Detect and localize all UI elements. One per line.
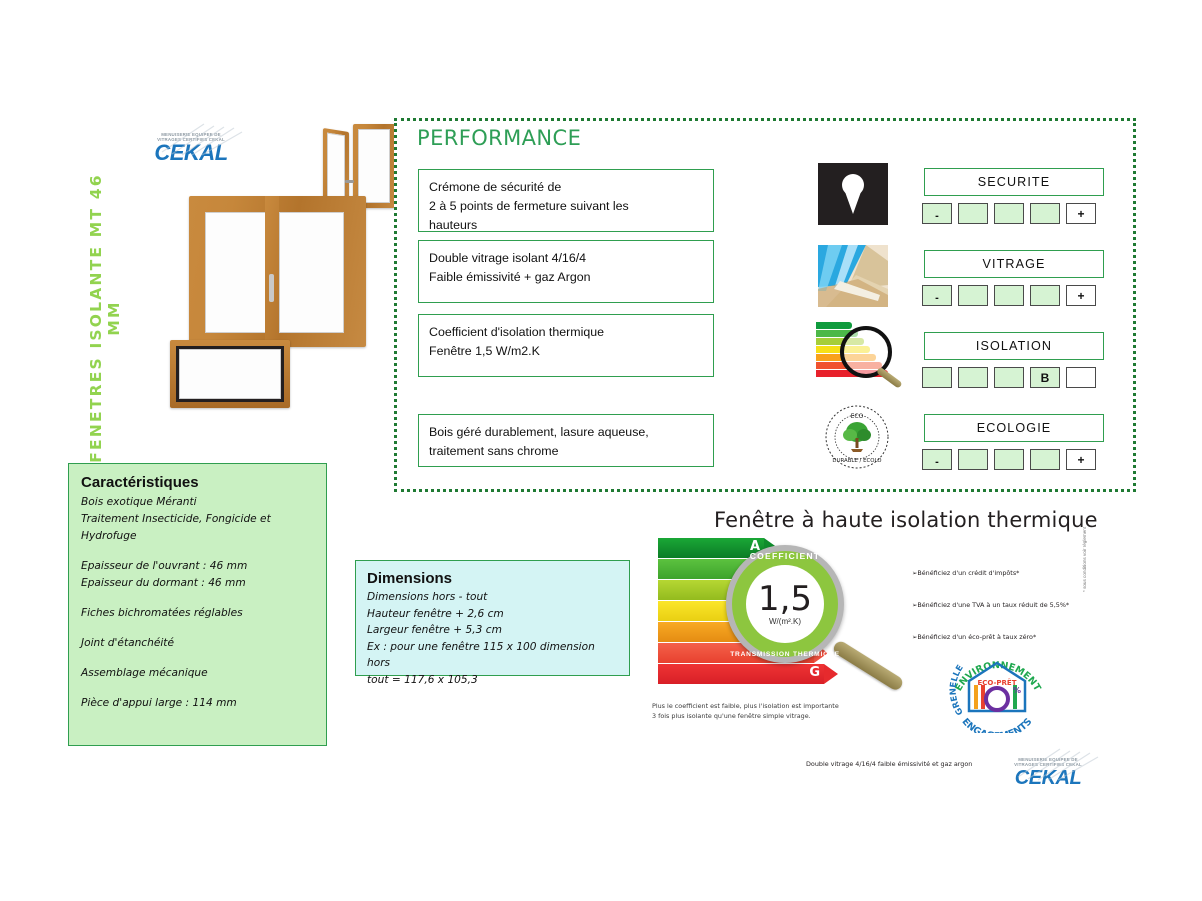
- energy-letter: G: [809, 665, 820, 680]
- feature-line: traitement sans chrome: [429, 442, 703, 461]
- svg-text:ECO: ECO: [851, 413, 864, 420]
- rating-label-isolation: ISOLATION: [924, 332, 1104, 360]
- feature-line: Faible émissivité + gaz Argon: [429, 268, 703, 287]
- promo-note-line: 3 fois plus isolante qu'une fenêtre simp…: [652, 712, 839, 722]
- double-window-image: [189, 196, 366, 347]
- grenelle-logo-illustration: ENVIRONNEMENT ENGAGEMENTS GRENELLE ECO-P…: [945, 645, 1050, 733]
- rating-box[interactable]: [958, 449, 988, 470]
- promo-title: Fenêtre à haute isolation thermique: [714, 508, 1098, 532]
- feature-line: Coefficient d'isolation thermique: [429, 323, 703, 342]
- carac-line: Hydrofuge: [81, 528, 314, 545]
- coefficient-caption-top: COEFFICIENT: [726, 551, 844, 561]
- feature-line: Fenêtre 1,5 W/m2.K: [429, 342, 703, 361]
- svg-text:ECO-PRÊT: ECO-PRÊT: [978, 678, 1017, 687]
- dimensions-line: Dimensions hors - tout: [367, 589, 618, 606]
- rating-label-vitrage: VITRAGE: [924, 250, 1104, 278]
- dimensions-title: Dimensions: [367, 570, 618, 587]
- feature-box-ecology: Bois géré durablement, lasure aqueuse, t…: [418, 414, 714, 467]
- rating-box[interactable]: [922, 367, 952, 388]
- svg-text:%: %: [1013, 686, 1021, 695]
- dimensions-box: Dimensions Dimensions hors - tout Hauteu…: [355, 560, 630, 676]
- energy-magnifier-icon: [816, 322, 902, 386]
- promo-note: Plus le coefficient est faible, plus l'i…: [652, 702, 839, 721]
- svg-text:ENGAGEMENTS: ENGAGEMENTS: [960, 716, 1035, 733]
- rating-box-plus[interactable]: +: [1066, 203, 1096, 224]
- feature-line: hauteurs: [429, 216, 703, 235]
- carac-line: Epaisseur du dormant : 46 mm: [81, 575, 314, 592]
- promo-bullet: ➢Bénéficiez d'une TVA à un taux réduit d…: [912, 600, 1092, 610]
- grenelle-environnement-logo: ENVIRONNEMENT ENGAGEMENTS GRENELLE ECO-P…: [945, 645, 1050, 733]
- footer-note: Double vitrage 4/16/4 faible émissivité …: [806, 760, 972, 768]
- feature-line: Crémone de sécurité de: [429, 178, 703, 197]
- rating-row-securite[interactable]: - +: [922, 203, 1096, 224]
- carac-line: Assemblage mécanique: [81, 665, 314, 682]
- rating-row-ecologie[interactable]: - +: [922, 449, 1096, 470]
- carac-line: Joint d'étanchéité: [81, 635, 314, 652]
- svg-text:DURABLE / ECOLO: DURABLE / ECOLO: [832, 458, 881, 464]
- coefficient-caption-bottom: TRANSMISSION THERMIQUE: [726, 651, 844, 658]
- rating-box[interactable]: [958, 367, 988, 388]
- coefficient-unit: W/(m².K): [769, 617, 801, 626]
- dimensions-line: Largeur fenêtre + 5,3 cm: [367, 622, 618, 639]
- promo-note-line: Plus le coefficient est faible, plus l'i…: [652, 702, 839, 712]
- feature-line: 2 à 5 points de fermeture suivant les: [429, 197, 703, 216]
- feature-box-insulation: Coefficient d'isolation thermique Fenêtr…: [418, 314, 714, 377]
- carac-line: Epaisseur de l'ouvrant : 46 mm: [81, 558, 314, 575]
- eco-stamp-icon: ECO DURABLE / ECOLO: [820, 404, 894, 470]
- dimensions-line: tout = 117,6 x 105,3: [367, 672, 618, 689]
- carac-line: Fiches bichromatées réglables: [81, 605, 314, 622]
- caracteristiques-title: Caractéristiques: [81, 474, 314, 491]
- dimensions-line: Ex : pour une fenêtre 115 x 100 dimensio…: [367, 639, 618, 672]
- carac-line: Traitement Insecticide, Fongicide et: [81, 511, 314, 528]
- rating-box[interactable]: [994, 367, 1024, 388]
- rating-box[interactable]: [1030, 285, 1060, 306]
- cekal-rays-icon: [158, 122, 244, 156]
- caracteristiques-box: Caractéristiques Bois exotique Méranti T…: [68, 463, 327, 746]
- dimensions-line: Hauteur fenêtre + 2,6 cm: [367, 606, 618, 623]
- rating-box[interactable]: [994, 203, 1024, 224]
- carac-line: Bois exotique Méranti: [81, 494, 314, 511]
- slide-page: FENETRES ISOLANTE MT 46 MM MENUISERIE EQ…: [0, 0, 1202, 901]
- rating-box[interactable]: [958, 285, 988, 306]
- rating-row-isolation[interactable]: B: [922, 367, 1096, 388]
- rating-box[interactable]: [994, 449, 1024, 470]
- keyhole-icon: [818, 163, 888, 225]
- promo-bullet: ➢Bénéficiez d'un éco-prêt à taux zéro*: [912, 632, 1092, 642]
- rating-box-minus[interactable]: -: [922, 285, 952, 306]
- cekal-rays-icon: [1014, 747, 1100, 781]
- rating-box-minus[interactable]: -: [922, 203, 952, 224]
- vertical-side-title: FENETRES ISOLANTE MT 46 MM: [87, 153, 123, 483]
- glazing-photo-icon: [818, 245, 888, 307]
- carac-line: Pièce d'appui large : 114 mm: [81, 695, 314, 712]
- feature-line: Double vitrage isolant 4/16/4: [429, 249, 703, 268]
- promo-bullet: ➢Bénéficiez d'un crédit d'impôts*: [912, 568, 1092, 578]
- rating-box-empty[interactable]: [1066, 367, 1096, 388]
- rating-box[interactable]: [1030, 203, 1060, 224]
- feature-box-security: Crémone de sécurité de 2 à 5 points de f…: [418, 169, 714, 232]
- coefficient-magnifier: COEFFICIENT 1,5 W/(m².K) TRANSMISSION TH…: [726, 545, 844, 663]
- rating-row-vitrage[interactable]: - +: [922, 285, 1096, 306]
- rating-box-plus[interactable]: +: [1066, 285, 1096, 306]
- feature-line: Bois géré durablement, lasure aqueuse,: [429, 423, 703, 442]
- rating-box-grade-b[interactable]: B: [1030, 367, 1060, 388]
- cekal-logo-bottom: MENUISERIE EQUIPEE DE VITRAGES CERTIFIES…: [1008, 757, 1088, 789]
- rating-label-securite: SECURITE: [924, 168, 1104, 196]
- feature-box-glazing: Double vitrage isolant 4/16/4 Faible émi…: [418, 240, 714, 303]
- rating-box[interactable]: [958, 203, 988, 224]
- rating-box-plus[interactable]: +: [1066, 449, 1096, 470]
- rating-box[interactable]: [994, 285, 1024, 306]
- rating-label-ecologie: ECOLOGIE: [924, 414, 1104, 442]
- eco-stamp-illustration: ECO DURABLE / ECOLO: [820, 404, 894, 470]
- rating-box[interactable]: [1030, 449, 1060, 470]
- promo-side-disclaimer: * sous conditions voir règlement: [1082, 502, 1087, 592]
- cekal-logo-top: MENUISERIE EQUIPEE DE VITRAGES CERTIFIES…: [148, 132, 234, 164]
- rating-box-minus[interactable]: -: [922, 449, 952, 470]
- transom-window-image: [170, 340, 290, 408]
- coefficient-value: 1,5: [758, 583, 812, 615]
- glazing-illustration: [818, 245, 888, 307]
- performance-title: PERFORMANCE: [417, 126, 581, 150]
